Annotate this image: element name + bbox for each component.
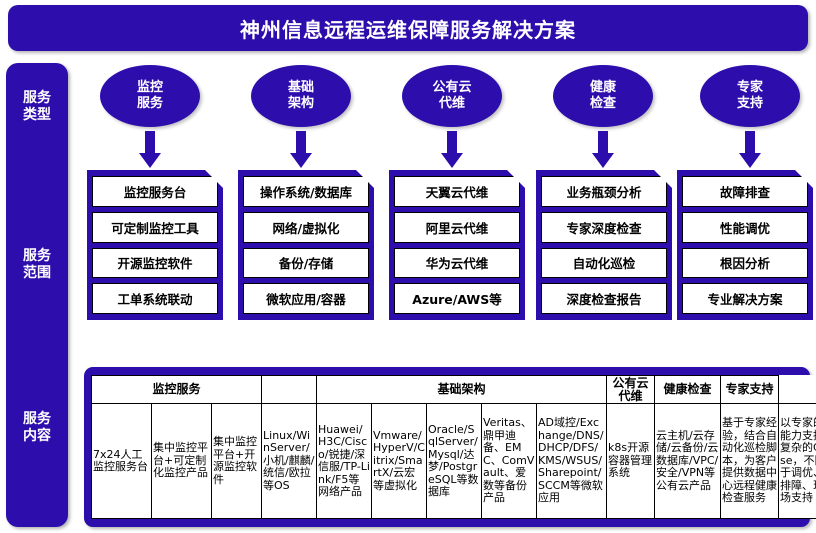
- content-cell: 集中监控平台+开源监控软件: [212, 404, 262, 519]
- sidebar-label-service-content-line1: 服务: [6, 411, 68, 428]
- sidebar-label-service-type-line2: 类型: [6, 107, 68, 124]
- category-ellipse-public-cloud-line1: 公有云: [432, 80, 471, 96]
- category-ellipse-expert-support-line2: 支持: [737, 96, 763, 112]
- down-arrow-icon-expert-support: [739, 131, 761, 169]
- sidebar-label-service-scope-line1: 服务: [6, 248, 68, 265]
- content-cell: k8s开源容器管理系统: [607, 404, 655, 519]
- scope-box-infrastructure: 操作系统/数据库 网络/虚拟化 备份/存储 微软应用/容器: [238, 170, 374, 320]
- content-cell: 7x24人工监控服务台: [92, 404, 152, 519]
- group-header-infrastructure: 基础架构: [317, 376, 607, 404]
- category-ellipse-expert-support[interactable]: 专家 支持: [700, 65, 800, 127]
- page-title: 神州信息远程运维保障服务解决方案: [8, 5, 808, 51]
- sidebar-label-service-type: 服务 类型: [6, 90, 68, 124]
- sidebar-label-service-scope-line2: 范围: [6, 265, 68, 282]
- scope-item[interactable]: 阿里云代维: [394, 212, 520, 243]
- scope-item[interactable]: Azure/AWS等: [394, 283, 520, 314]
- scope-item[interactable]: 根因分析: [682, 248, 808, 279]
- scope-item[interactable]: 专业解决方案: [682, 283, 808, 314]
- content-cell: 以专家的能力支持复杂的Case，不限于调优、排障、现场支持: [779, 404, 816, 519]
- sidebar-label-service-content-line2: 内容: [6, 428, 68, 445]
- service-content-table: 监控服务 基础架构 公有云代维 健康检查 专家支持 7x24人工监控服务台 集中…: [91, 375, 816, 519]
- category-ellipse-monitoring-line1: 监控: [137, 80, 163, 96]
- down-arrow-icon-health-check: [592, 131, 614, 169]
- category-ellipse-monitoring-line2: 服务: [137, 96, 163, 112]
- table-row: 7x24人工监控服务台 集中监控平台+可定制化监控产品 集中监控平台+开源监控软…: [92, 404, 816, 519]
- group-header-expert-support: 专家支持: [721, 376, 779, 404]
- content-cell: Veritas、鼎甲迪备、EMC、ComVault、爱数等备份产品: [482, 404, 537, 519]
- category-ellipse-health-check-line1: 健康: [590, 80, 616, 96]
- scope-box-monitoring: 监控服务台 可定制监控工具 开源监控软件 工单系统联动: [87, 170, 223, 320]
- scope-item[interactable]: 天翼云代维: [394, 176, 520, 207]
- category-ellipse-public-cloud-line2: 代维: [439, 96, 465, 112]
- sidebar-label-service-scope: 服务 范围: [6, 248, 68, 282]
- category-ellipse-infrastructure[interactable]: 基础 架构: [251, 65, 351, 127]
- scope-item[interactable]: 故障排查: [682, 176, 808, 207]
- scope-item[interactable]: 业务瓶颈分析: [541, 176, 667, 207]
- group-header-monitoring: 监控服务: [92, 376, 262, 404]
- category-ellipse-public-cloud[interactable]: 公有云 代维: [402, 65, 502, 127]
- content-cell: Vmware/HyperV/Citrix/SmartX/云宏等虚拟化: [372, 404, 427, 519]
- category-ellipse-infrastructure-line2: 架构: [288, 96, 314, 112]
- scope-item[interactable]: 专家深度检查: [541, 212, 667, 243]
- scope-box-public-cloud: 天翼云代维 阿里云代维 华为云代维 Azure/AWS等: [389, 170, 525, 320]
- content-cell: Linux/WinServer/小机/麒麟/统信/欧拉等OS: [262, 404, 317, 519]
- scope-item[interactable]: 深度检查报告: [541, 283, 667, 314]
- scope-item[interactable]: 操作系统/数据库: [243, 176, 369, 207]
- group-header-public-cloud: 公有云代维: [607, 376, 655, 404]
- content-cell: 基于专家经验，结合自动化巡检脚本，为客户提供数据中心远程健康检查服务: [721, 404, 779, 519]
- category-ellipse-monitoring[interactable]: 监控 服务: [100, 65, 200, 127]
- sidebar-label-service-type-line1: 服务: [6, 90, 68, 107]
- service-content-panel: 监控服务 基础架构 公有云代维 健康检查 专家支持 7x24人工监控服务台 集中…: [84, 367, 810, 527]
- down-arrow-icon-infrastructure: [290, 131, 312, 169]
- group-header-blank: [262, 376, 317, 404]
- scope-item[interactable]: 开源监控软件: [92, 248, 218, 279]
- diagram-canvas: 神州信息远程运维保障服务解决方案 服务 类型 服务 范围 服务 内容 监控 服务…: [0, 0, 816, 533]
- content-cell: Huawei/H3C/Cisco/锐捷/深信服/TP-Link/F5等网络产品: [317, 404, 372, 519]
- scope-item[interactable]: 可定制监控工具: [92, 212, 218, 243]
- content-cell: 云主机/云存储/云备份/云数据库/VPC/安全/VPN等公有云产品: [655, 404, 721, 519]
- group-header-health-check: 健康检查: [655, 376, 721, 404]
- scope-item[interactable]: 网络/虚拟化: [243, 212, 369, 243]
- scope-box-health-check: 业务瓶颈分析 专家深度检查 自动化巡检 深度检查报告: [536, 170, 672, 320]
- scope-item[interactable]: 华为云代维: [394, 248, 520, 279]
- scope-item[interactable]: 备份/存储: [243, 248, 369, 279]
- content-cell: 集中监控平台+可定制化监控产品: [152, 404, 212, 519]
- table-group-header-row: 监控服务 基础架构 公有云代维 健康检查 专家支持: [92, 376, 816, 404]
- scope-item[interactable]: 微软应用/容器: [243, 283, 369, 314]
- category-ellipse-health-check-line2: 检查: [590, 96, 616, 112]
- category-ellipse-health-check[interactable]: 健康 检查: [553, 65, 653, 127]
- down-arrow-icon-monitoring: [139, 131, 161, 169]
- category-ellipse-expert-support-line1: 专家: [737, 80, 763, 96]
- content-cell: AD域控/Exchange/DNS/DHCP/DFS/KMS/WSUS/Shar…: [537, 404, 607, 519]
- category-ellipse-infrastructure-line1: 基础: [288, 80, 314, 96]
- left-category-bar: 服务 类型 服务 范围 服务 内容: [6, 63, 68, 527]
- content-cell: Oracle/SqlServer/Mysql/达梦/PostgreSQL等数据库: [427, 404, 482, 519]
- scope-item[interactable]: 工单系统联动: [92, 283, 218, 314]
- scope-item[interactable]: 监控服务台: [92, 176, 218, 207]
- sidebar-label-service-content: 服务 内容: [6, 411, 68, 445]
- scope-item[interactable]: 自动化巡检: [541, 248, 667, 279]
- scope-box-expert-support: 故障排查 性能调优 根因分析 专业解决方案: [677, 170, 813, 320]
- scope-item[interactable]: 性能调优: [682, 212, 808, 243]
- down-arrow-icon-public-cloud: [441, 131, 463, 169]
